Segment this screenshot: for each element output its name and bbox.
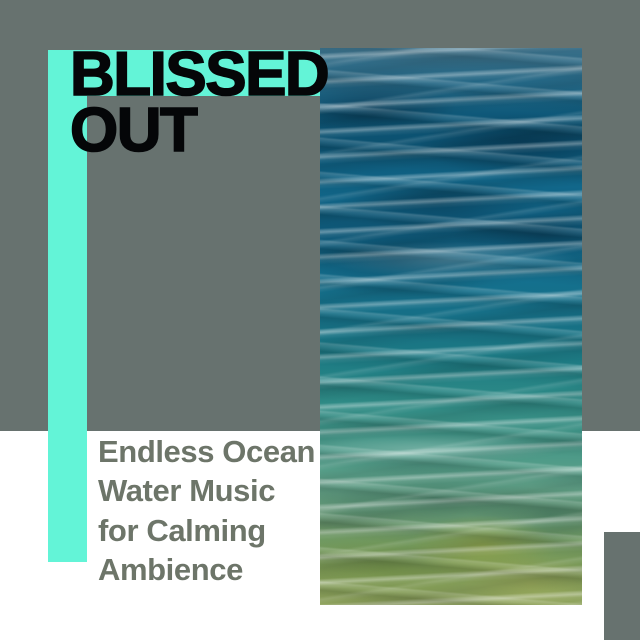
album-subtitle: Endless Ocean Water Music for Calming Am… <box>98 432 326 589</box>
background-gray-corner-block <box>604 532 640 640</box>
album-title: BLISSED OUT <box>70 47 330 159</box>
ocean-water-photo <box>320 48 582 605</box>
album-cover: BLISSED OUT Endless Ocean Water Music fo… <box>0 0 640 640</box>
photo-surface-sheen <box>320 48 582 605</box>
